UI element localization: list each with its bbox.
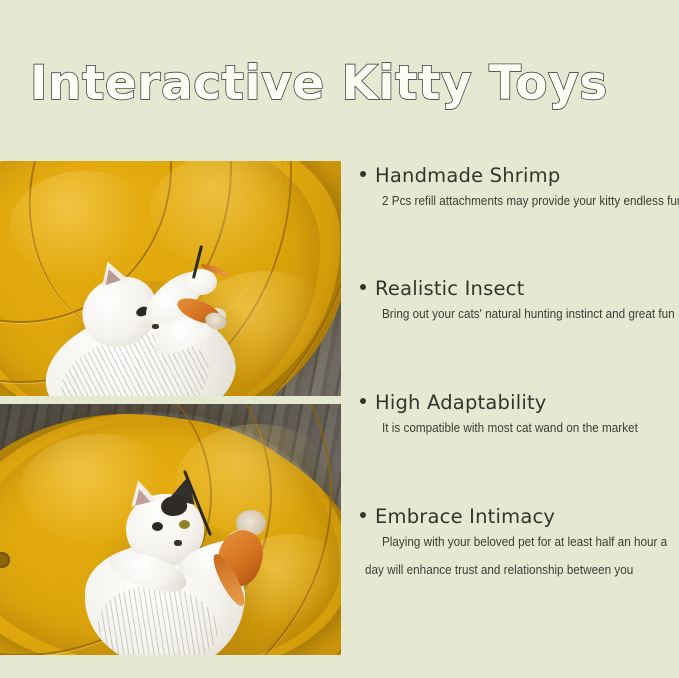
- feature-description-line-1: Playing with your beloved pet for at lea…: [382, 528, 654, 556]
- title-bar: Interactive Kitty Toys: [0, 55, 679, 117]
- feature-item-high-adaptability: High Adaptability It is compatible with …: [360, 392, 675, 442]
- bullet-icon: [360, 171, 366, 177]
- page-title: Interactive Kitty Toys: [30, 55, 608, 113]
- cat-paw: [185, 269, 217, 295]
- feature-description: 2 Pcs refill attachments may provide you…: [382, 187, 654, 215]
- feature-title: Embrace Intimacy: [375, 506, 555, 528]
- bullet-icon: [360, 284, 366, 290]
- feature-item-realistic-insect: Realistic Insect Bring out your cats' na…: [360, 278, 675, 328]
- cat-nose: [174, 540, 182, 546]
- photo-cat-hugging-shrimp-toy: [0, 404, 341, 655]
- feature-description: Bring out your cats' natural hunting ins…: [382, 300, 654, 328]
- product-feature-infographic: Interactive Kitty Toys: [0, 0, 679, 678]
- feature-title: Realistic Insect: [375, 278, 524, 300]
- cat-eye-right: [179, 520, 190, 529]
- feature-title: Handmade Shrimp: [375, 165, 560, 187]
- bullet-icon: [360, 398, 366, 404]
- bullet-icon: [360, 512, 366, 518]
- feature-description: It is compatible with most cat wand on t…: [382, 414, 654, 442]
- feature-description-line-2: day will enhance trust and relationship …: [365, 556, 653, 584]
- cat-nose: [152, 324, 159, 329]
- feature-item-handmade-shrimp: Handmade Shrimp 2 Pcs refill attachments…: [360, 165, 675, 215]
- cat-eye-left: [152, 522, 163, 531]
- photo-cat-playing-with-wand-toy: [0, 161, 341, 396]
- feature-title: High Adaptability: [375, 392, 547, 414]
- feature-item-embrace-intimacy: Embrace Intimacy Playing with your belov…: [360, 506, 675, 584]
